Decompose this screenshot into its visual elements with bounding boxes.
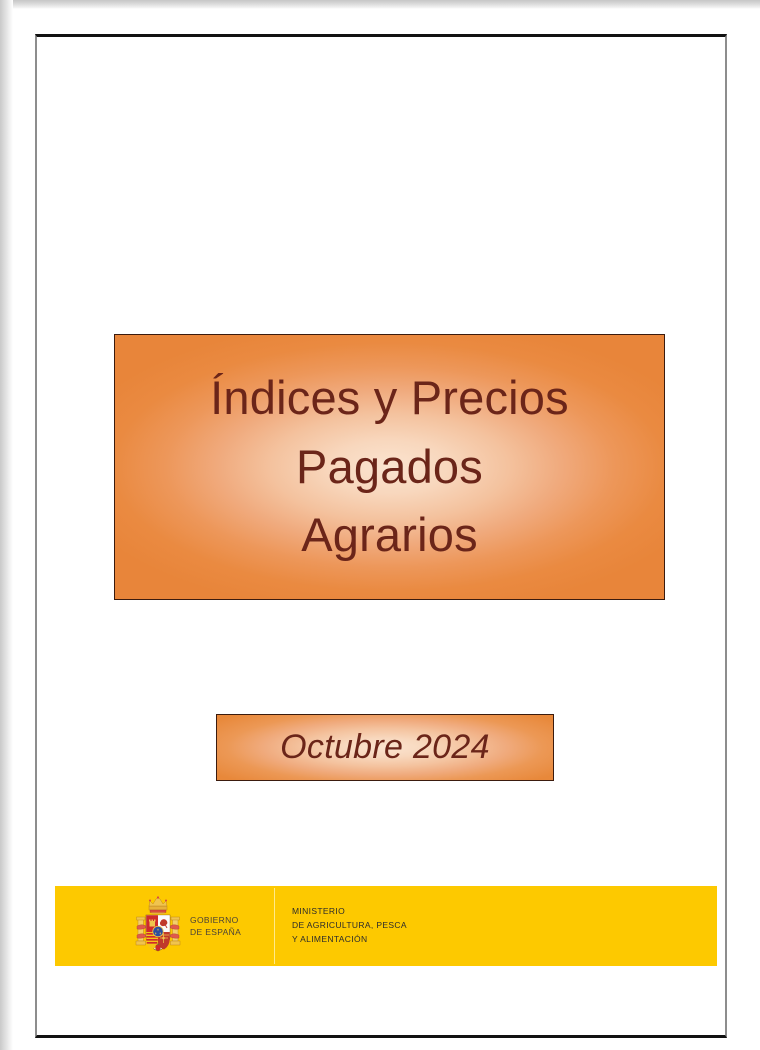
document-viewer: Índices y Precios Pagados Agrarios Octub… (0, 0, 760, 1050)
title-line-3: Agrarios (301, 503, 478, 568)
viewer-left-gutter (0, 0, 13, 1050)
ministry-label-line3: Y ALIMENTACIÓN (292, 933, 407, 947)
ministry-label: MINISTERIO DE AGRICULTURA, PESCA Y ALIME… (292, 905, 407, 946)
spain-coat-of-arms-icon (135, 895, 181, 957)
publication-date: Octubre 2024 (280, 728, 490, 767)
cover-title-box: Índices y Precios Pagados Agrarios (114, 334, 665, 600)
cover-date-box: Octubre 2024 (216, 714, 554, 781)
ministry-label-line2: DE AGRICULTURA, PESCA (292, 919, 407, 933)
title-line-2: Pagados (296, 435, 483, 500)
government-banner: GOBIERNO DE ESPAÑA MINISTERIO DE AGRICUL… (55, 886, 717, 966)
ministry-label-line1: MINISTERIO (292, 905, 407, 919)
government-label: GOBIERNO DE ESPAÑA (190, 914, 241, 939)
ministry-identity: MINISTERIO DE AGRICULTURA, PESCA Y ALIME… (275, 886, 717, 966)
government-identity: GOBIERNO DE ESPAÑA (55, 886, 274, 966)
title-line-1: Índices y Precios (210, 366, 569, 431)
government-label-line1: GOBIERNO (190, 914, 241, 926)
government-label-line2: DE ESPAÑA (190, 926, 241, 938)
document-page: Índices y Precios Pagados Agrarios Octub… (35, 34, 727, 1038)
viewer-top-gutter (0, 0, 760, 9)
